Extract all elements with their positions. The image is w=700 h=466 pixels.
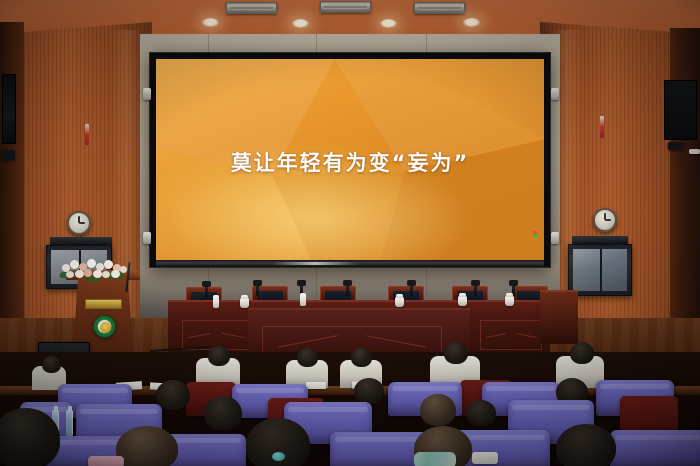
table-teacup-4 <box>505 296 514 306</box>
podium-emblem-icon <box>93 315 116 338</box>
wall-clock-left-icon <box>67 211 91 235</box>
attendee-head-r2-1 <box>204 396 242 430</box>
attendee-head-b5 <box>570 342 594 364</box>
wall-marker-left <box>85 124 89 145</box>
screen-status-led <box>533 231 537 238</box>
wall-clock-right-icon <box>593 208 617 232</box>
cabinet-top-right <box>572 236 628 244</box>
table-teacup-2 <box>395 297 404 307</box>
screen-mount-clip-top-right <box>551 88 559 100</box>
wall-monitor-right <box>664 80 697 140</box>
ceiling-downlight-1 <box>202 18 219 27</box>
attendee-head-b3 <box>351 348 372 367</box>
table-panel-right <box>480 320 542 350</box>
attendee-head-r1-5 <box>556 424 616 466</box>
hair-scrunchie <box>272 452 285 461</box>
podium-flower-arrangement <box>58 256 130 282</box>
head-table-mic-5[interactable] <box>410 284 413 296</box>
ceiling-downlight-2 <box>292 19 309 28</box>
screen-bezel-gloss <box>272 262 357 265</box>
slide-title-text: 莫让年轻有为变“妄为” <box>156 147 544 177</box>
screen-mount-clip-bottom-left <box>143 232 151 244</box>
screen-mount-clip-bottom-right <box>551 232 559 244</box>
wall-marker-right <box>600 116 604 138</box>
seat-r1-5[interactable] <box>610 430 700 466</box>
teal-cloth-item <box>414 452 456 466</box>
attendee-head-b4 <box>444 342 468 364</box>
head-table-mic-4[interactable] <box>346 284 349 296</box>
side-table-right <box>540 290 578 344</box>
table-teacup-3 <box>458 296 467 306</box>
wall-device-left <box>2 150 15 160</box>
head-table-mic-2[interactable] <box>256 284 259 296</box>
table-teacup-1 <box>240 298 249 308</box>
attendee-head-r2-2 <box>420 394 456 426</box>
cabinet-top-left <box>50 237 112 245</box>
pink-item-front <box>88 456 124 466</box>
cabinet-divider-right <box>600 249 602 291</box>
projection-screen-frame: 莫让年轻有为变“妄为” <box>149 52 551 268</box>
attendee-head-r3-1 <box>156 380 190 410</box>
podium-nameplate <box>85 299 122 309</box>
ceiling-downlight-4 <box>463 18 480 27</box>
ceiling-vent-1 <box>226 2 277 14</box>
projection-screen[interactable]: 莫让年轻有为变“妄为” <box>156 59 544 260</box>
attendee-head-b1 <box>208 346 230 366</box>
attendee-head-r2-3 <box>466 400 496 426</box>
wall-device-right <box>668 142 684 150</box>
head-table-mic-1[interactable] <box>205 285 208 297</box>
wall-speaker-left <box>2 74 16 144</box>
head-table-mic-6[interactable] <box>474 284 477 296</box>
table-bottle-1 <box>213 295 219 308</box>
auditorium-scene: 莫让年轻有为变“妄为” <box>0 0 700 466</box>
screen-mount-clip-top-left <box>143 88 151 100</box>
screen-bottom-bezel <box>156 260 544 267</box>
attendee-head-b2 <box>297 348 318 367</box>
notebook-3 <box>306 382 326 389</box>
attendee-head-r3-2 <box>354 378 384 404</box>
water-bottle-2 <box>66 410 73 437</box>
attendee-head-r1-2 <box>116 426 178 466</box>
ceiling-vent-3 <box>414 2 465 14</box>
paper-item-front <box>472 452 498 464</box>
attendee-head-b6 <box>42 356 61 373</box>
wall-light-strip-right <box>689 149 700 154</box>
ceiling-downlight-3 <box>380 19 397 28</box>
ceiling-vent-2 <box>320 1 371 13</box>
table-bottle-2 <box>300 293 306 306</box>
av-cabinet-right[interactable] <box>568 244 632 296</box>
audience-area <box>0 352 700 466</box>
